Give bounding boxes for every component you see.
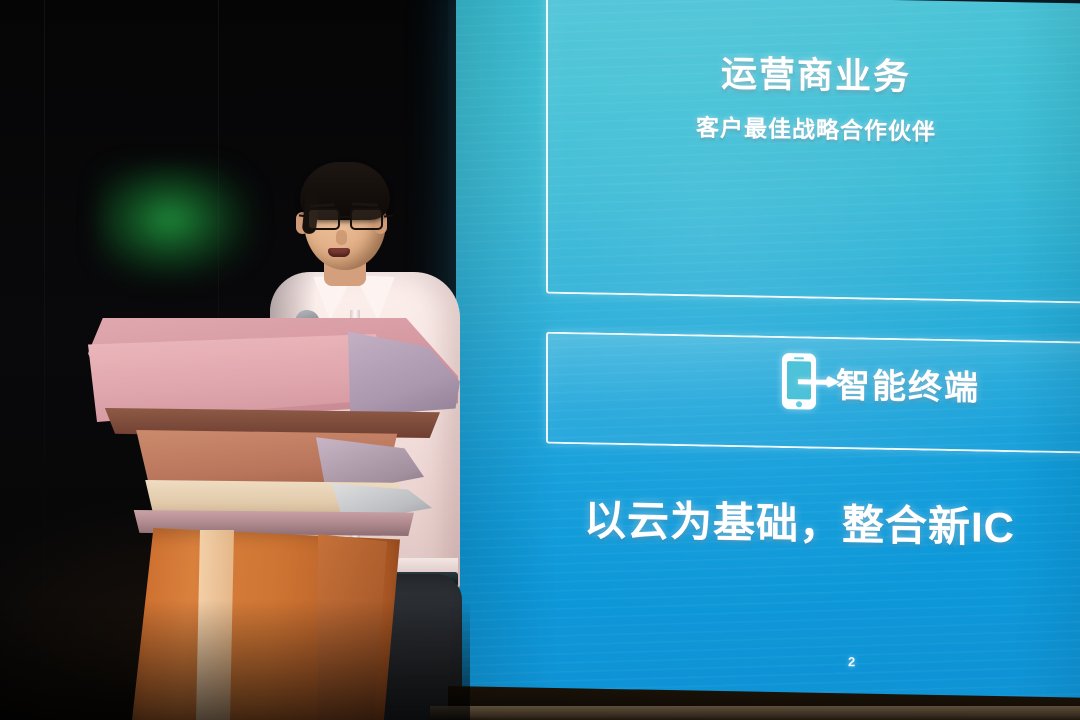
- conference-stage-scene: 运营商业务 客户最佳战略合作伙伴 智能终端 以云为基础，整合新IC 2: [0, 0, 1080, 720]
- projection-screen: 运营商业务 客户最佳战略合作伙伴 智能终端 以云为基础，整合新IC 2: [456, 0, 1080, 704]
- slide-panel-lower-content: 智能终端: [782, 353, 980, 413]
- wall-seam-left: [44, 0, 45, 720]
- slide-body-text: 以云为基础，整合新IC: [584, 486, 1015, 555]
- eyeglass-lens-left: [307, 208, 340, 230]
- stage-floor-strip: [430, 706, 1080, 720]
- presentation-slide: 运营商业务 客户最佳战略合作伙伴 智能终端 以云为基础，整合新IC 2: [456, 0, 1080, 704]
- eyeglass-temple-right: [384, 214, 393, 217]
- eyeglass-bridge: [340, 216, 352, 218]
- slide-title: 运营商业务: [606, 43, 1026, 103]
- slide-panel-lower-label: 智能终端: [836, 357, 980, 409]
- lectern: [70, 312, 470, 720]
- lectern-column-stripe: [196, 530, 234, 720]
- eyeglass-lens-right: [350, 208, 383, 230]
- presenter-nose: [336, 230, 347, 245]
- stage-light-glow-icon: [96, 162, 256, 282]
- arrow-right-icon: [798, 374, 842, 389]
- smartphone-speaker: [794, 357, 804, 359]
- smartphone-exit-icon: [782, 353, 816, 410]
- eyeglasses-icon: [302, 208, 390, 232]
- presenter-mouth: [328, 248, 350, 257]
- arrow-head: [826, 375, 840, 389]
- lectern-column-right: [318, 534, 414, 720]
- smartphone-home-button: [796, 401, 802, 407]
- slide-page-number: 2: [848, 654, 855, 669]
